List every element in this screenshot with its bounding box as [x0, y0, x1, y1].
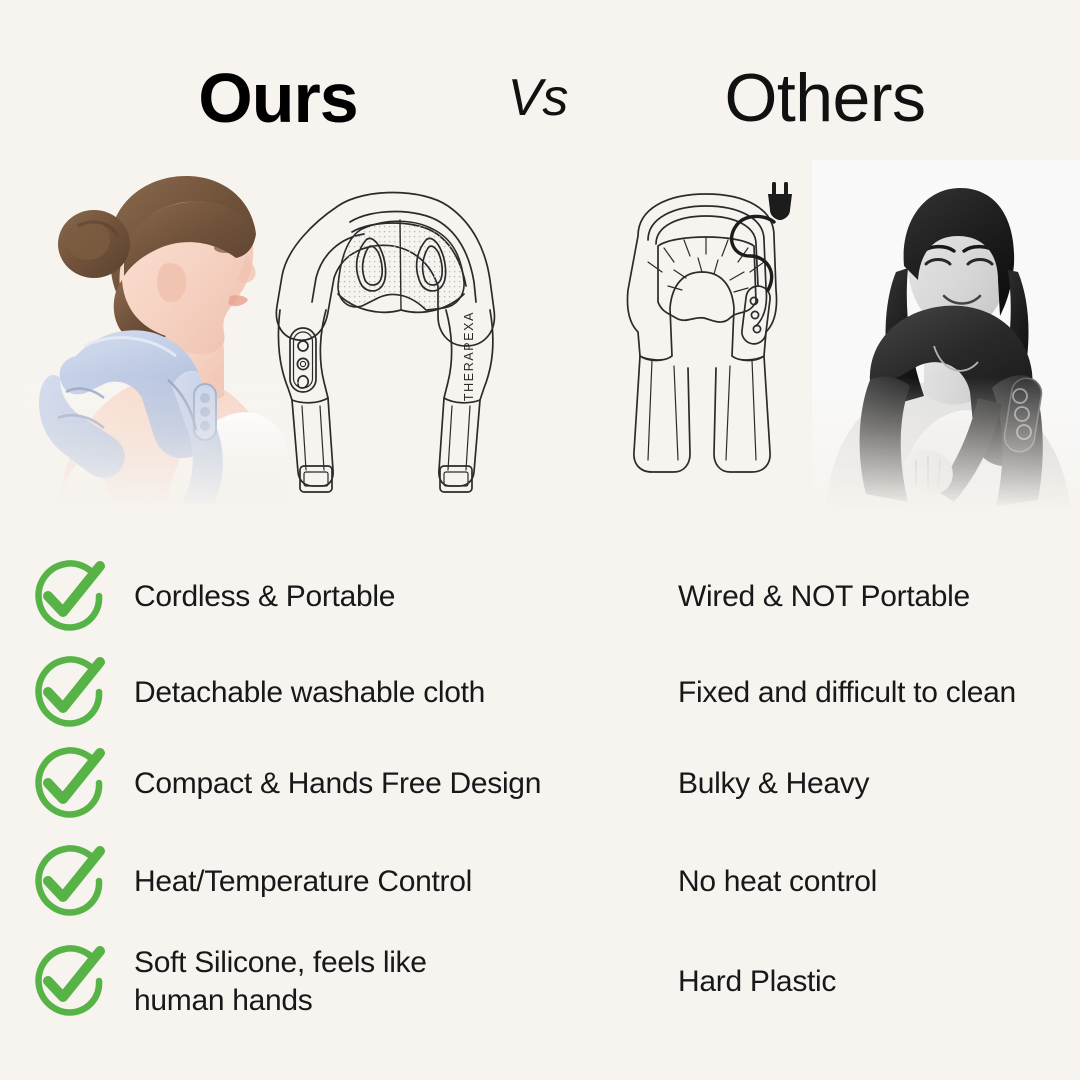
cons-label: No heat control: [678, 863, 877, 901]
cons-row: No heat control: [565, 833, 1065, 931]
others-lifestyle-photo: [812, 160, 1080, 510]
cons-label: Fixed and difficult to clean: [678, 674, 1016, 712]
pros-row: Detachable washable cloth: [30, 644, 560, 742]
header-ours-label: Ours: [168, 48, 388, 148]
x-circle-icon: [572, 746, 648, 822]
pros-row: Cordless & Portable: [30, 548, 560, 646]
pros-label: Compact & Hands Free Design: [134, 765, 541, 803]
check-circle-icon: [30, 745, 108, 823]
check-circle-icon: [30, 654, 108, 732]
header-vs-label: Vs: [468, 50, 608, 146]
comparison-lists: Cordless & Portable Detachable washable …: [0, 548, 1080, 1058]
check-circle-icon: [30, 558, 108, 636]
pros-label: Heat/Temperature Control: [134, 863, 472, 901]
pros-label: Cordless & Portable: [134, 578, 395, 616]
header: Ours Vs Others: [0, 48, 1080, 148]
cons-label: Hard Plastic: [678, 963, 836, 1001]
cons-row: Bulky & Heavy: [565, 735, 1065, 833]
ours-product-line-drawing: THERAPEXA: [268, 160, 518, 510]
ours-lifestyle-photo: [18, 160, 286, 510]
check-circle-icon: [30, 943, 108, 1021]
x-circle-icon: [572, 944, 648, 1020]
x-circle-icon: [572, 844, 648, 920]
hero-visual-band: THERAPEXA: [0, 160, 1080, 510]
pros-label: Detachable washable cloth: [134, 674, 485, 712]
pros-row: Heat/Temperature Control: [30, 833, 560, 931]
x-circle-icon: [572, 655, 648, 731]
cons-row: Wired & NOT Portable: [565, 548, 1065, 646]
cons-row: Fixed and difficult to clean: [565, 644, 1065, 742]
header-others-label: Others: [700, 48, 950, 148]
brand-label: THERAPEXA: [462, 311, 476, 401]
power-plug-icon: [768, 182, 792, 220]
others-product-line-drawing: [578, 160, 838, 510]
pros-column: Cordless & Portable Detachable washable …: [30, 548, 560, 1058]
pros-row: Compact & Hands Free Design: [30, 735, 560, 833]
check-circle-icon: [30, 843, 108, 921]
pros-row: Soft Silicone, feels like human hands: [30, 933, 560, 1031]
cons-label: Bulky & Heavy: [678, 765, 869, 803]
x-circle-icon: [572, 559, 648, 635]
cons-label: Wired & NOT Portable: [678, 578, 970, 616]
pros-label: Soft Silicone, feels like human hands: [134, 944, 427, 1021]
cons-row: Hard Plastic: [565, 933, 1065, 1031]
comparison-infographic: Ours Vs Others: [0, 0, 1080, 1080]
cons-column: Wired & NOT Portable Fixed and difficult…: [565, 548, 1065, 1058]
